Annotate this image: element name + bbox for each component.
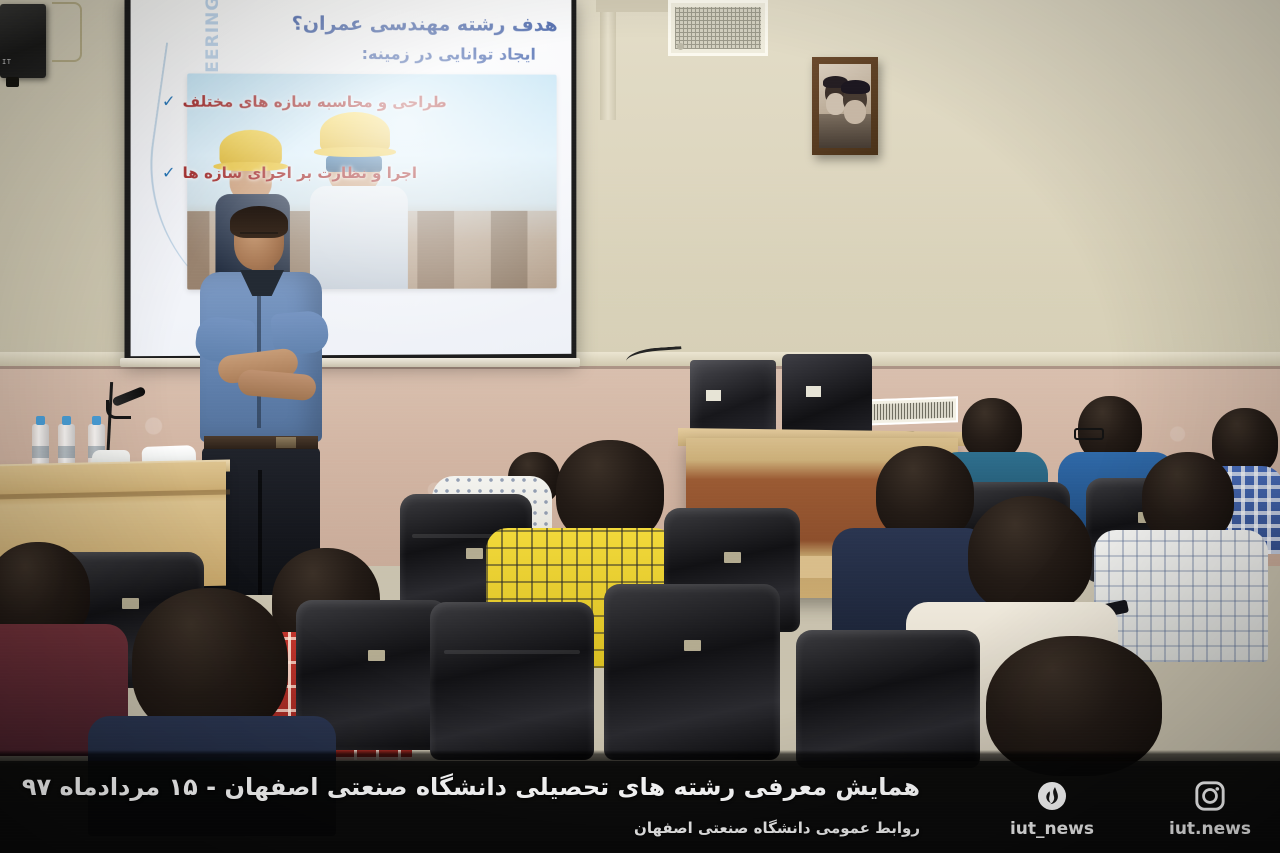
speaker-cable [52, 2, 82, 62]
social-handle: iut_news [1010, 819, 1094, 839]
ceiling-vent-grille [668, 0, 768, 56]
auditorium-seat[interactable] [604, 584, 780, 760]
seat-number-badge [684, 640, 701, 651]
event-photograph: IT CIVIL ENGINEERING هدف رشته مهندسی عمر… [0, 0, 1280, 853]
seat-number-badge [724, 552, 741, 563]
projected-slide: CIVIL ENGINEERING هدف رشته مهندسی عمران؟… [131, 0, 572, 356]
portrait-turban-right [841, 80, 870, 94]
slide-title: هدف رشته مهندسی عمران؟ [292, 10, 558, 40]
slide-bullet-text: طراحی و محاسبه سازه های مختلف [183, 92, 447, 111]
chair-tag [806, 386, 821, 397]
presenter-belt-buckle [276, 437, 296, 448]
door-frame [600, 0, 616, 120]
attendee-head [962, 398, 1022, 460]
social-handle: iut.news [1169, 819, 1251, 839]
seat-groove [444, 650, 580, 654]
portrait-image [819, 64, 871, 148]
presenter-belt [204, 436, 318, 449]
slide-subtitle: ایجاد توانایی در زمینه: [362, 44, 536, 64]
projection-screen: CIVIL ENGINEERING هدف رشته مهندسی عمران؟… [124, 0, 576, 363]
wall-speaker: IT [0, 4, 46, 78]
social-soroush[interactable]: iut_news [1000, 779, 1104, 839]
slide-bullet-item: ✓ اجرا و نظارت بر اجرای سازه ها [162, 163, 562, 182]
vent-mesh [675, 7, 761, 49]
slide-bullet-list: ✓ طراحی و محاسبه سازه های مختلف ✓ اجرا و… [162, 91, 562, 234]
lower-vent-mesh [865, 401, 953, 420]
seat-number-badge [466, 548, 483, 559]
presenter-leg-seam [258, 470, 262, 595]
vent-knob [677, 43, 684, 50]
framed-portrait [812, 57, 878, 155]
social-instagram[interactable]: iut.news [1158, 779, 1262, 839]
lower-wall-vent [860, 396, 958, 425]
attendee-torso [1094, 530, 1268, 662]
chair-tag [706, 390, 721, 401]
seat-number-badge [368, 650, 385, 661]
presenter-glasses [240, 232, 278, 242]
social-links: iut_news iut.news [1000, 779, 1262, 839]
auditorium-seat[interactable] [430, 602, 594, 760]
slide-bullet-item: ✓ طراحی و محاسبه سازه های مختلف [162, 91, 562, 111]
slide-bullet-text: اجرا و نظارت بر اجرای سازه ها [183, 163, 417, 181]
caption-sub-text: روابط عمومی دانشگاه صنعتی اصفهان [634, 819, 920, 837]
instagram-icon [1193, 779, 1227, 813]
auditorium-seat[interactable] [796, 630, 980, 768]
caption-main-text: همایش معرفی رشته های تحصیلی دانشگاه صنعت… [22, 773, 920, 801]
stage-chair-right [782, 354, 872, 442]
soroush-icon [1035, 779, 1069, 813]
speaker-brand-label: IT [2, 58, 11, 66]
attendee-head [968, 496, 1092, 614]
checkmark-icon: ✓ [162, 91, 176, 110]
attendee-glasses [1074, 428, 1104, 440]
checkmark-icon: ✓ [162, 163, 176, 182]
whiteboard-rail [120, 358, 580, 367]
seat-number-badge [122, 598, 139, 609]
